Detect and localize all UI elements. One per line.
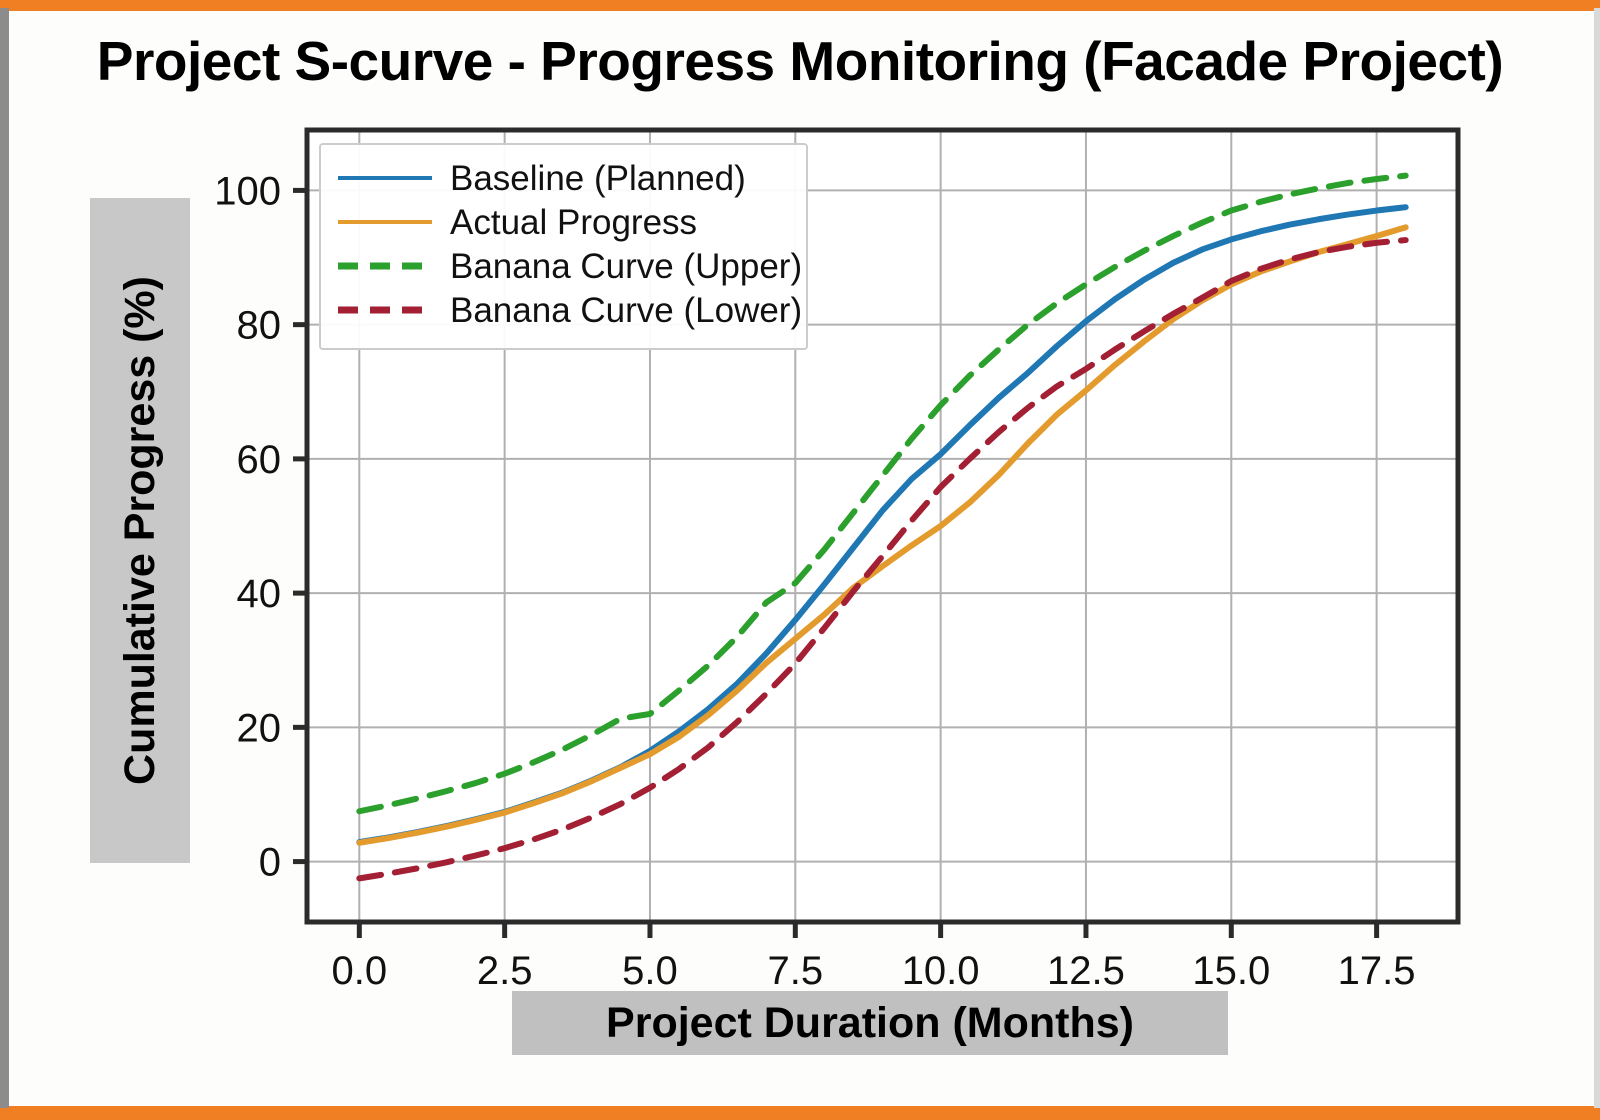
s-curve-chart: 0204060801000.02.55.07.510.012.515.017.5… [0,0,1600,1120]
legend-label-3: Banana Curve (Lower) [450,291,802,330]
x-tick-label: 10.0 [902,949,980,993]
y-tick-label: 20 [237,706,282,750]
y-tick-label: 80 [237,304,282,348]
y-tick-label: 40 [237,572,282,616]
legend-label-2: Banana Curve (Upper) [450,247,802,286]
x-tick-label: 0.0 [332,949,388,993]
y-tick-label: 100 [214,169,281,213]
x-tick-label: 17.5 [1338,949,1416,993]
slide-canvas: Project S-curve - Progress Monitoring (F… [0,0,1600,1120]
x-tick-label: 7.5 [767,949,823,993]
x-tick-label: 5.0 [622,949,678,993]
chart-legend: Baseline (Planned)Actual ProgressBanana … [320,144,807,349]
x-tick-label: 2.5 [477,949,533,993]
legend-label-1: Actual Progress [450,203,697,242]
y-tick-label: 60 [237,438,282,482]
x-tick-label: 12.5 [1047,949,1125,993]
legend-label-0: Baseline (Planned) [450,159,746,198]
y-tick-label: 0 [259,841,281,885]
chart-plot-area: 0204060801000.02.55.07.510.012.515.017.5… [0,0,1600,1120]
x-tick-label: 15.0 [1192,949,1270,993]
